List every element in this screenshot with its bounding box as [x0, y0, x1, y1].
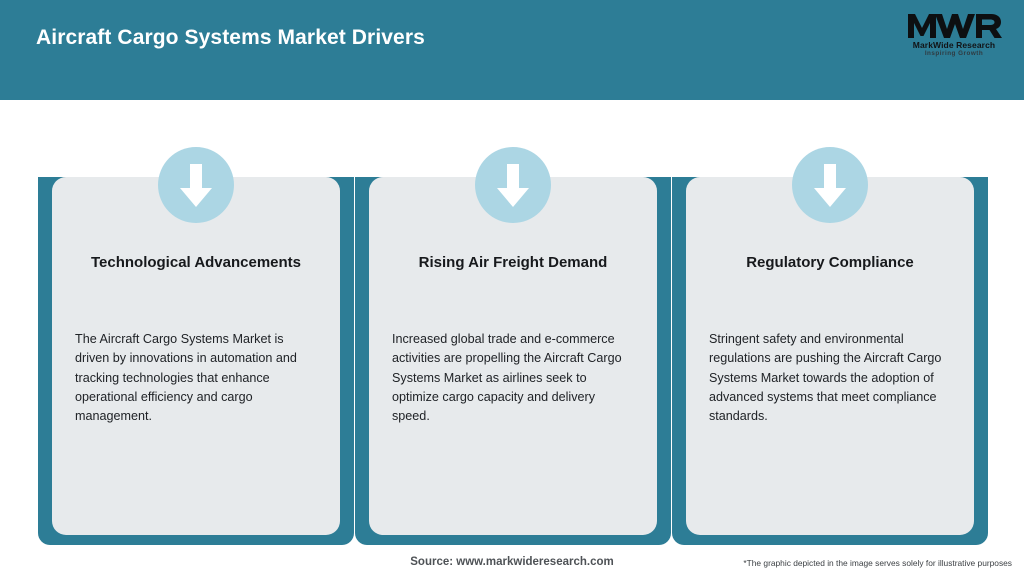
- driver-card-1[interactable]: Technological Advancements The Aircraft …: [38, 177, 354, 545]
- arrow-down-icon: [792, 147, 868, 223]
- card-description: Stringent safety and environmental regul…: [709, 330, 951, 426]
- driver-card-3[interactable]: Regulatory Compliance Stringent safety a…: [672, 177, 988, 545]
- arrow-down-glyph: [493, 160, 533, 210]
- disclaimer-note: *The graphic depicted in the image serve…: [743, 558, 1012, 568]
- card-panel: Technological Advancements The Aircraft …: [52, 177, 340, 535]
- markwide-research-logo: MarkWide Research Inspiring Growth: [902, 8, 1006, 66]
- driver-card-2[interactable]: Rising Air Freight Demand Increased glob…: [355, 177, 671, 545]
- arrow-down-glyph: [810, 160, 850, 210]
- arrow-down-icon: [475, 147, 551, 223]
- card-title: Rising Air Freight Demand: [379, 253, 647, 272]
- card-description: Increased global trade and e-commerce ac…: [392, 330, 634, 426]
- arrow-down-glyph: [176, 160, 216, 210]
- logo-tagline: Inspiring Growth: [902, 50, 1006, 57]
- mwr-monogram-icon: [902, 8, 1006, 42]
- card-panel: Rising Air Freight Demand Increased glob…: [369, 177, 657, 535]
- card-title: Regulatory Compliance: [696, 253, 964, 272]
- card-description: The Aircraft Cargo Systems Market is dri…: [75, 330, 317, 426]
- card-title: Technological Advancements: [62, 253, 330, 272]
- card-panel: Regulatory Compliance Stringent safety a…: [686, 177, 974, 535]
- page-title: Aircraft Cargo Systems Market Drivers: [36, 26, 425, 50]
- header-bar: Aircraft Cargo Systems Market Drivers Ma…: [0, 0, 1024, 100]
- arrow-down-icon: [158, 147, 234, 223]
- logo-company-name: MarkWide Research: [902, 40, 1006, 50]
- infographic-slide: Aircraft Cargo Systems Market Drivers Ma…: [0, 0, 1024, 576]
